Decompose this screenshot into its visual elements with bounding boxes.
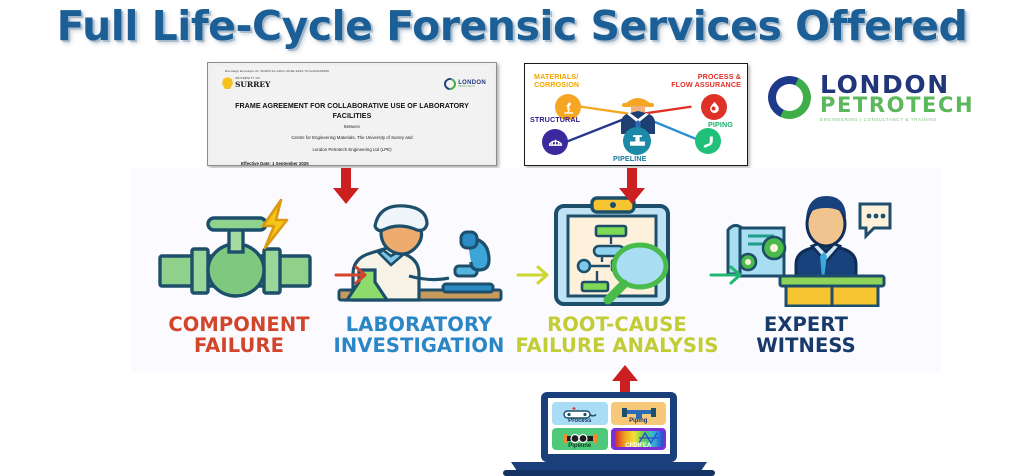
hub-label-pipeline: PIPELINE	[613, 155, 647, 163]
document-envelope-stamp: Docusign Envelope ID: 9CDFF1A-A9C1-4C3E-…	[225, 69, 487, 73]
surrey-logo-name: SURREY	[235, 81, 270, 89]
laptop-tile-cfd-fea[interactable]: CFD/FEA	[611, 428, 667, 451]
london-petrotech-logo: LONDON PETROTECH ENGINEERING | CONSULTAN…	[768, 68, 996, 126]
agreement-between-label: Between	[211, 124, 493, 129]
flow-stage-label-root-cause-failure-analysis: ROOT-CAUSE FAILURE ANALYSIS	[513, 314, 721, 356]
disciplines-hub-card[interactable]: MATERIALS/ CORROSION PROCESS & FLOW ASSU…	[524, 63, 748, 166]
hub-label-piping: PIPING	[708, 121, 733, 129]
pipeline-diagram-icon	[561, 432, 599, 446]
flow-stage-label-laboratory-investigation: LABORATORY INVESTIGATION	[315, 314, 523, 356]
hub-node-structural[interactable]	[542, 129, 568, 155]
agreement-document-card[interactable]: Docusign Envelope ID: 9CDFF1A-A9C1-4C3E-…	[207, 62, 497, 166]
document-partner-logo: LONDON PETROTECH	[444, 78, 486, 90]
bridge-icon	[548, 135, 563, 150]
laptop-tile-process[interactable]: Process	[552, 402, 608, 425]
laptop-tile-label-cfd-fea: CFD/FEA	[625, 443, 651, 450]
microscope-icon	[561, 100, 576, 115]
laboratory-investigation-art	[329, 192, 509, 307]
flow-stage-label-expert-witness: EXPERT WITNESS	[702, 314, 910, 356]
university-of-surrey-logo: UNIVERSITY OF SURREY	[222, 77, 270, 89]
slide-canvas: Full Life-Cycle Forensic Services Offere…	[0, 0, 1024, 476]
expert-at-desk-icon	[718, 192, 894, 307]
laptop-tile-piping[interactable]: Piping	[611, 402, 667, 425]
process-diagram-icon	[560, 406, 600, 422]
valve-icon	[629, 133, 646, 150]
page-title: Full Life-Cycle Forensic Services Offere…	[0, 2, 1024, 50]
agreement-document-page: Docusign Envelope ID: 9CDFF1A-A9C1-4C3E-…	[211, 66, 493, 162]
clipboard-flowchart-magnifier-icon	[542, 192, 692, 307]
logo-name-secondary: PETROTECH	[820, 95, 974, 116]
flow-stage-label-component-failure: COMPONENT FAILURE	[135, 314, 343, 356]
component-failure-art	[149, 192, 329, 307]
laptop-tile-pipeline[interactable]: Pipeline	[552, 428, 608, 451]
surrey-crest-icon	[222, 77, 233, 89]
agreement-heading: FRAME AGREEMENT FOR COLLABORATIVE USE OF…	[211, 101, 493, 122]
hub-label-materials-corrosion: MATERIALS/ CORROSION	[534, 73, 579, 89]
droplet-flow-icon	[707, 100, 722, 115]
document-partner-logo-subname: PETROTECH	[458, 86, 486, 88]
pipe-bend-icon	[701, 134, 716, 149]
hub-node-process-flow-assurance[interactable]	[701, 94, 727, 120]
flow-arrow-3	[709, 262, 749, 288]
expert-witness-art	[716, 192, 896, 307]
petrotech-swirl-icon	[768, 76, 811, 119]
petrotech-ring-icon	[442, 76, 459, 93]
scientist-microscope-icon	[335, 192, 503, 307]
agreement-party-two: London Petrotech Engineering Ltd (LPE)	[211, 147, 493, 152]
agreement-effective-date: Effective Date: 1 September 2025	[241, 161, 309, 166]
flow-arrow-1	[334, 262, 374, 288]
software-laptop[interactable]: Process Piping Pipeline	[503, 392, 715, 476]
connector-arrow-agreement-to-laboratory	[333, 168, 359, 204]
pipe-valve-lightning-icon	[154, 192, 324, 304]
hub-label-process-flow-assurance: PROCESS & FLOW ASSURANCE	[671, 73, 741, 89]
root-cause-analysis-art	[527, 192, 707, 307]
flow-arrow-2	[516, 262, 556, 288]
connector-arrow-disciplines-to-root-cause	[619, 168, 645, 204]
hub-label-structural: STRUCTURAL	[530, 116, 580, 124]
logo-tagline: ENGINEERING | CONSULTANCY & TRAINING	[820, 118, 974, 123]
hub-node-piping[interactable]	[695, 128, 721, 154]
process-flow-panel: COMPONENT FAILURE	[131, 168, 941, 372]
hub-node-pipeline[interactable]	[623, 127, 651, 155]
flow-stage-component-failure[interactable]: COMPONENT FAILURE	[149, 174, 329, 364]
piping-diagram-icon	[620, 406, 658, 421]
laptop-screen-tiles: Process Piping Pipeline	[551, 401, 667, 451]
agreement-party-one: Centre for Engineering Materials, The Un…	[211, 135, 493, 140]
